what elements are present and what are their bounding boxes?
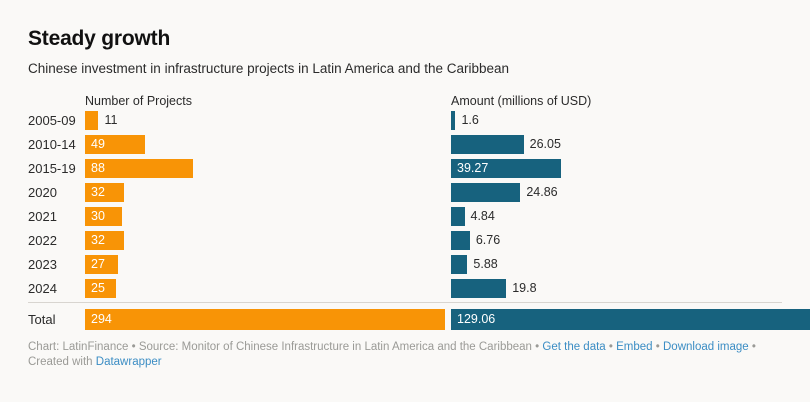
amount-bar-cell: 39.27 (451, 156, 810, 180)
amount-bar-value: 5.88 (467, 257, 497, 271)
amount-bar-value: 19.8 (506, 281, 536, 295)
chart-footer: Chart: LatinFinance • Source: Monitor of… (28, 340, 788, 370)
projects-bar[interactable]: 27 (85, 255, 118, 274)
bar-row: 2005-09111.6 (28, 108, 782, 132)
row-label: 2020 (28, 185, 85, 200)
projects-bar-cell: 27 (85, 252, 445, 276)
projects-bar[interactable] (85, 111, 98, 130)
footer-credit: Chart: LatinFinance (28, 341, 128, 353)
amount-bar[interactable]: 129.06 (451, 309, 810, 330)
projects-bar[interactable]: 32 (85, 231, 124, 250)
projects-bar-value: 294 (85, 312, 112, 326)
projects-bar-value: 27 (85, 257, 105, 271)
chart-subtitle: Chinese investment in infrastructure pro… (28, 52, 782, 78)
projects-bar-value: 88 (85, 161, 105, 175)
amount-bar-value: 26.05 (524, 137, 561, 151)
projects-bar[interactable]: 49 (85, 135, 145, 154)
bar-row: 20242519.8 (28, 276, 782, 300)
amount-bar[interactable] (451, 279, 506, 298)
amount-bar-value: 6.76 (470, 233, 500, 247)
bar-row: 2010-144926.05 (28, 132, 782, 156)
projects-bar-value: 30 (85, 209, 105, 223)
bar-row: 2023275.88 (28, 252, 782, 276)
amount-bar-cell: 1.6 (451, 108, 810, 132)
amount-bar-value: 39.27 (451, 161, 488, 175)
download-image-link[interactable]: Download image (663, 341, 749, 353)
datawrapper-link[interactable]: Datawrapper (96, 356, 162, 368)
row-label: 2023 (28, 257, 85, 272)
projects-bar[interactable]: 32 (85, 183, 124, 202)
amount-bar[interactable]: 39.27 (451, 159, 561, 178)
amount-bar[interactable] (451, 183, 520, 202)
amount-bar-cell: 4.84 (451, 204, 810, 228)
amount-bar-cell: 24.86 (451, 180, 810, 204)
amount-bar[interactable] (451, 207, 465, 226)
amount-bar[interactable] (451, 135, 524, 154)
footer-created-with: Created with (28, 356, 93, 368)
projects-bar[interactable]: 88 (85, 159, 193, 178)
amount-bar[interactable] (451, 231, 470, 250)
get-the-data-link[interactable]: Get the data (542, 341, 605, 353)
projects-bar-cell: 32 (85, 228, 445, 252)
footer-dot-5: • (752, 341, 756, 353)
amount-bar-value: 1.6 (455, 113, 478, 127)
row-label: 2005-09 (28, 113, 85, 128)
footer-dot-4: • (656, 341, 660, 353)
projects-bar-value: 49 (85, 137, 105, 151)
footer-dot-3: • (609, 341, 613, 353)
chart-title: Steady growth (28, 0, 782, 52)
projects-bar-cell: 294 (85, 306, 445, 332)
footer-dot-2: • (535, 341, 539, 353)
footer-dot-1: • (132, 341, 136, 353)
row-label: 2021 (28, 209, 85, 224)
projects-bar-cell: 88 (85, 156, 445, 180)
projects-bar[interactable]: 294 (85, 309, 445, 330)
amount-bar-cell: 5.88 (451, 252, 810, 276)
footer-source: Source: Monitor of Chinese Infrastructur… (139, 341, 532, 353)
amount-bar[interactable] (451, 255, 467, 274)
amount-column-header: Amount (millions of USD) (451, 94, 591, 108)
projects-bar-cell: 30 (85, 204, 445, 228)
bar-row: 20203224.86 (28, 180, 782, 204)
amount-bar-cell: 129.06 (451, 306, 810, 332)
chart-container: Steady growth Chinese investment in infr… (0, 0, 810, 402)
projects-bar-cell: 32 (85, 180, 445, 204)
amount-bar-cell: 26.05 (451, 132, 810, 156)
bar-row: 2015-198839.27 (28, 156, 782, 180)
projects-bar-value: 25 (85, 281, 105, 295)
bar-row: 2021304.84 (28, 204, 782, 228)
projects-bar-value: 32 (85, 233, 105, 247)
row-label: 2010-14 (28, 137, 85, 152)
projects-bar-cell: 11 (85, 108, 445, 132)
amount-bar-cell: 6.76 (451, 228, 810, 252)
row-label: 2022 (28, 233, 85, 248)
embed-link[interactable]: Embed (616, 341, 652, 353)
row-label: 2024 (28, 281, 85, 296)
projects-bar[interactable]: 30 (85, 207, 122, 226)
projects-bar[interactable]: 25 (85, 279, 116, 298)
projects-bar-cell: 49 (85, 132, 445, 156)
amount-bar-value: 24.86 (520, 185, 557, 199)
bar-row: 2022326.76 (28, 228, 782, 252)
projects-bar-value: 32 (85, 185, 105, 199)
bar-rows: 2005-09111.62010-144926.052015-198839.27… (28, 108, 782, 332)
amount-bar-value: 4.84 (465, 209, 495, 223)
projects-bar-cell: 25 (85, 276, 445, 300)
row-label: 2015-19 (28, 161, 85, 176)
amount-bar-value: 129.06 (451, 312, 495, 326)
row-label: Total (28, 312, 85, 327)
bar-chart-grid: Number of Projects Amount (millions of U… (28, 90, 782, 332)
projects-column-header: Number of Projects (85, 94, 192, 108)
total-row: Total294129.06 (28, 306, 782, 332)
projects-bar-value: 11 (98, 113, 117, 127)
column-header-row: Number of Projects Amount (millions of U… (28, 90, 782, 108)
amount-bar-cell: 19.8 (451, 276, 810, 300)
total-separator (28, 302, 782, 303)
